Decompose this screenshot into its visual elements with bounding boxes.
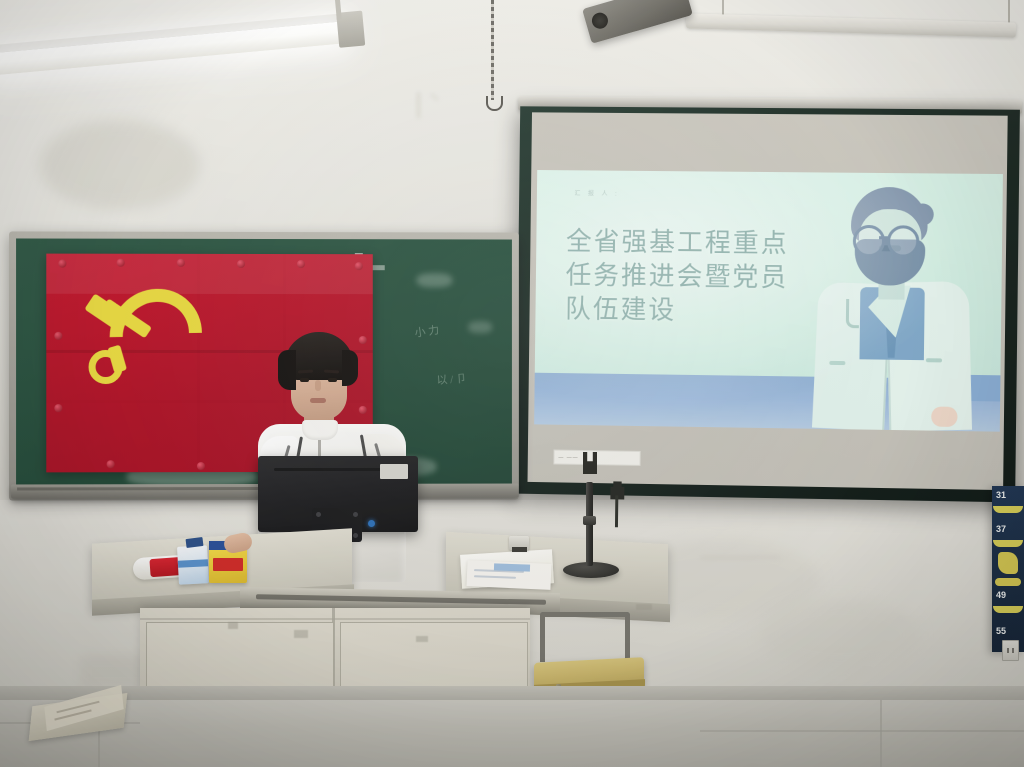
chalk-smudge xyxy=(417,273,453,287)
hammer-grip-icon xyxy=(89,350,123,384)
tape-strip xyxy=(371,265,385,270)
flag-pin xyxy=(58,260,66,268)
screen-bottom-label: — —— xyxy=(553,450,640,466)
flag-pin xyxy=(177,259,185,267)
presenter-hair-side xyxy=(278,350,296,390)
chain-hook-icon xyxy=(486,96,503,111)
wall-chart-number: 55 xyxy=(996,626,1006,636)
monitor-vent xyxy=(274,468,386,471)
wall-chart-number: 49 xyxy=(996,590,1006,600)
projection-screen: 汇 报 人 : 全省强基工程重点 任务推进会暨党员 队伍建设 — —— xyxy=(516,102,1020,504)
mouth xyxy=(310,398,326,403)
mic-stand-joint[interactable] xyxy=(583,516,596,525)
podium-seam xyxy=(140,618,530,620)
doctor-hand xyxy=(931,406,957,426)
vesa-screw xyxy=(316,512,321,517)
wall-outlet[interactable] xyxy=(1002,640,1019,661)
flag-pin xyxy=(54,404,62,412)
slide-title-line-2: 任务推进会暨党员 xyxy=(565,260,834,297)
monitor-power-led xyxy=(368,520,375,527)
screen-pull-rod xyxy=(615,495,618,527)
wall-chart-number: 31 xyxy=(996,490,1006,500)
chalk-note: 以 / 卩 xyxy=(436,370,467,388)
stethoscope-icon xyxy=(846,299,859,328)
slide-title-line-1: 全省强基工程重点 xyxy=(566,226,835,263)
floor-tile-line xyxy=(880,700,882,767)
jacket-collar xyxy=(302,420,338,440)
doctor-pocket xyxy=(926,358,942,362)
slide-title-line-3: 队伍建设 xyxy=(565,293,834,330)
wall-chart-bar xyxy=(993,606,1023,613)
flag-pin xyxy=(117,259,125,267)
screen-surface: 汇 报 人 : 全省强基工程重点 任务推进会暨党员 队伍建设 — —— xyxy=(528,112,1008,490)
box-red-label xyxy=(213,558,243,571)
chalk-smudge xyxy=(468,321,492,333)
hammer-and-sickle-emblem xyxy=(83,288,181,380)
monitor-sticker xyxy=(380,464,408,479)
wall-scuff xyxy=(700,556,780,559)
chalk-note: 小 力 xyxy=(414,321,441,340)
hanging-chain xyxy=(491,0,494,100)
vesa-screw xyxy=(353,512,358,517)
right-wall-chart: 31 37 49 55 xyxy=(992,486,1024,652)
doctor-pocket xyxy=(829,361,845,365)
monitor-panel-back xyxy=(258,456,418,532)
screen-label-text: — —— xyxy=(558,454,578,460)
flag-pin xyxy=(54,332,62,340)
floor xyxy=(0,700,1024,767)
wall-chart-bar xyxy=(993,506,1023,513)
nose xyxy=(315,380,321,391)
projector-lens-icon xyxy=(590,11,610,31)
podium-scuff xyxy=(228,622,238,629)
wall-scuff xyxy=(417,92,420,118)
outlet-slot xyxy=(1007,648,1009,653)
podium-scuff xyxy=(294,630,308,638)
glasses-bridge-icon xyxy=(879,236,888,239)
slide-eyebrow-text: 汇 报 人 : xyxy=(574,188,619,197)
flag-pin xyxy=(297,260,305,268)
device-dark-strip xyxy=(512,547,527,552)
wall-chart-graphic xyxy=(998,552,1018,574)
floor-tile-line xyxy=(700,730,1024,732)
classroom-photo: 汇 报 人 : 全省强基工程重点 任务推进会暨党员 队伍建设 — —— xyxy=(0,0,1024,767)
presenter-hair-side xyxy=(342,350,358,386)
wall-chart-number: 37 xyxy=(996,524,1006,534)
podium-scuff xyxy=(416,636,428,642)
wall-stain xyxy=(40,120,200,210)
flag-pin xyxy=(197,462,205,470)
paper-blue-mark xyxy=(494,563,530,571)
flag-pin xyxy=(237,260,245,268)
vesa-screw xyxy=(353,533,358,538)
stool-backrest xyxy=(540,612,630,662)
outlet-slot xyxy=(1012,648,1014,653)
slide-title: 全省强基工程重点 任务推进会暨党员 队伍建设 xyxy=(565,226,835,330)
eye-left xyxy=(300,378,309,382)
projected-slide: 汇 报 人 : 全省强基工程重点 任务推进会暨党员 队伍建设 xyxy=(534,170,1003,432)
wall-stain xyxy=(760,600,920,670)
eye-right xyxy=(328,378,337,382)
flag-fold xyxy=(197,254,200,472)
flag-pin xyxy=(355,262,363,270)
wall-chart-bar xyxy=(993,540,1023,547)
podium-scuff xyxy=(636,604,652,610)
flag-pin xyxy=(107,460,115,468)
wall-chart-graphic xyxy=(995,578,1021,586)
